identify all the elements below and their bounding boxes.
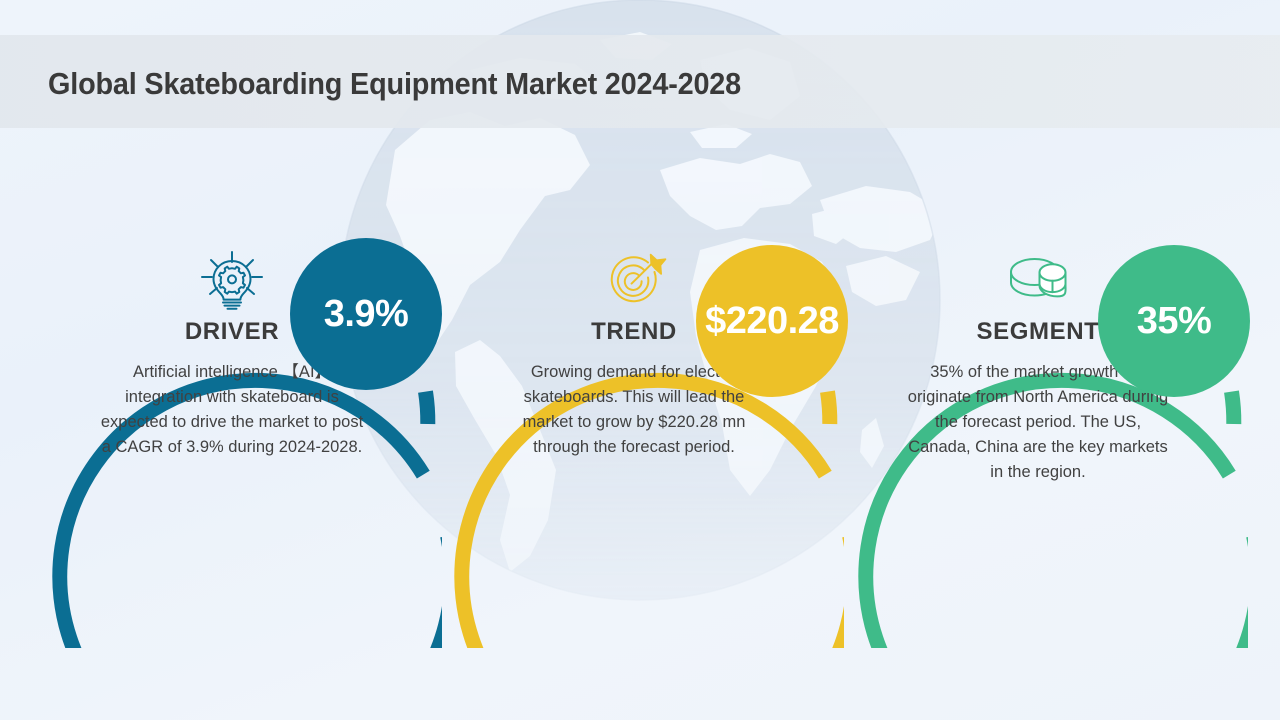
card-driver: DRIVER Artificial intelligence 【AI】 inte… [22,228,442,648]
driver-badge-value: 3.9% [324,293,409,336]
segment-badge: 35% [1098,245,1250,397]
trend-badge: $220.28 [696,245,848,397]
target-arrow-icon [598,250,670,312]
trend-badge-value: $220.28 [705,300,839,343]
infographic-slide: Global Skateboarding Equipment Market 20… [0,0,1280,720]
segment-badge-value: 35% [1137,300,1212,343]
pie-chart-segment-icon [1002,250,1074,312]
card-segment: SEGMENT 35% of the market growth will or… [828,228,1248,648]
card-trend: TREND Growing demand for electric skateb… [424,228,844,648]
page-title: Global Skateboarding Equipment Market 20… [48,66,741,102]
lightbulb-gear-icon [196,250,268,312]
driver-badge: 3.9% [290,238,442,390]
